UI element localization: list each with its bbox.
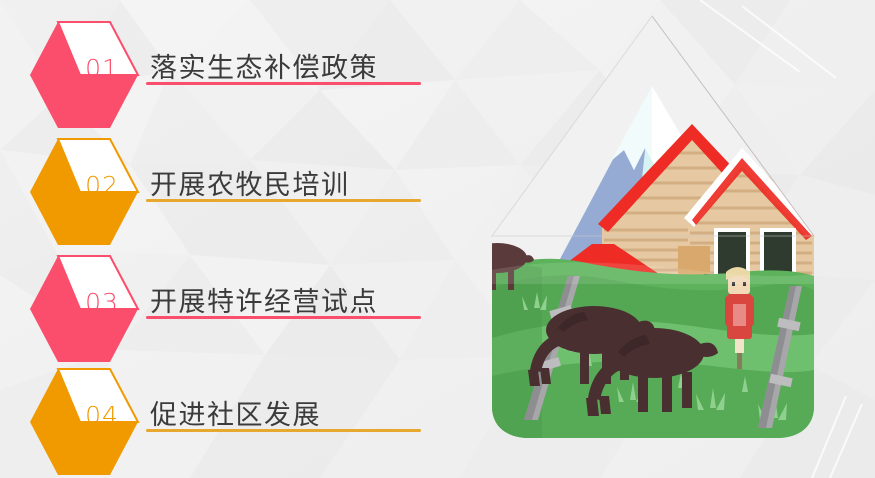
hexagon-badge-icon: 01 — [28, 20, 140, 130]
list-item[interactable]: 04 促进社区发展 — [0, 365, 445, 478]
step-number: 01 — [70, 54, 134, 83]
list-item[interactable]: 02 开展农牧民培训 — [0, 135, 445, 251]
step-underline — [146, 429, 421, 432]
step-number: 04 — [70, 401, 134, 430]
step-title: 促进社区发展 — [150, 393, 440, 432]
step-underline — [146, 82, 421, 85]
step-underline — [146, 199, 421, 202]
slide-canvas: 01 落实生态补偿政策 02 开展农牧民培训 — [0, 0, 875, 478]
steps-list: 01 落实生态补偿政策 02 开展农牧民培训 — [0, 0, 445, 478]
person-arm — [725, 296, 731, 326]
hexagon-badge-icon: 04 — [28, 367, 140, 477]
step-underline — [146, 316, 421, 319]
person-pole — [737, 353, 742, 369]
list-item[interactable]: 01 落实生态补偿政策 — [0, 18, 445, 134]
person-legs — [735, 339, 744, 353]
step-title: 开展农牧民培训 — [150, 163, 440, 202]
step-number: 02 — [70, 171, 134, 200]
window-glass — [764, 232, 792, 274]
person-arm — [748, 296, 754, 326]
person-vest-panel — [733, 304, 746, 326]
hexagon-badge-icon: 02 — [28, 137, 140, 247]
step-number: 03 — [70, 288, 134, 317]
rural-farm-illustration — [442, 8, 862, 456]
step-title: 开展特许经营试点 — [150, 280, 440, 319]
hexagon-badge-icon: 03 — [28, 254, 140, 364]
step-title: 落实生态补偿政策 — [150, 46, 440, 85]
list-item[interactable]: 03 开展特许经营试点 — [0, 252, 445, 368]
